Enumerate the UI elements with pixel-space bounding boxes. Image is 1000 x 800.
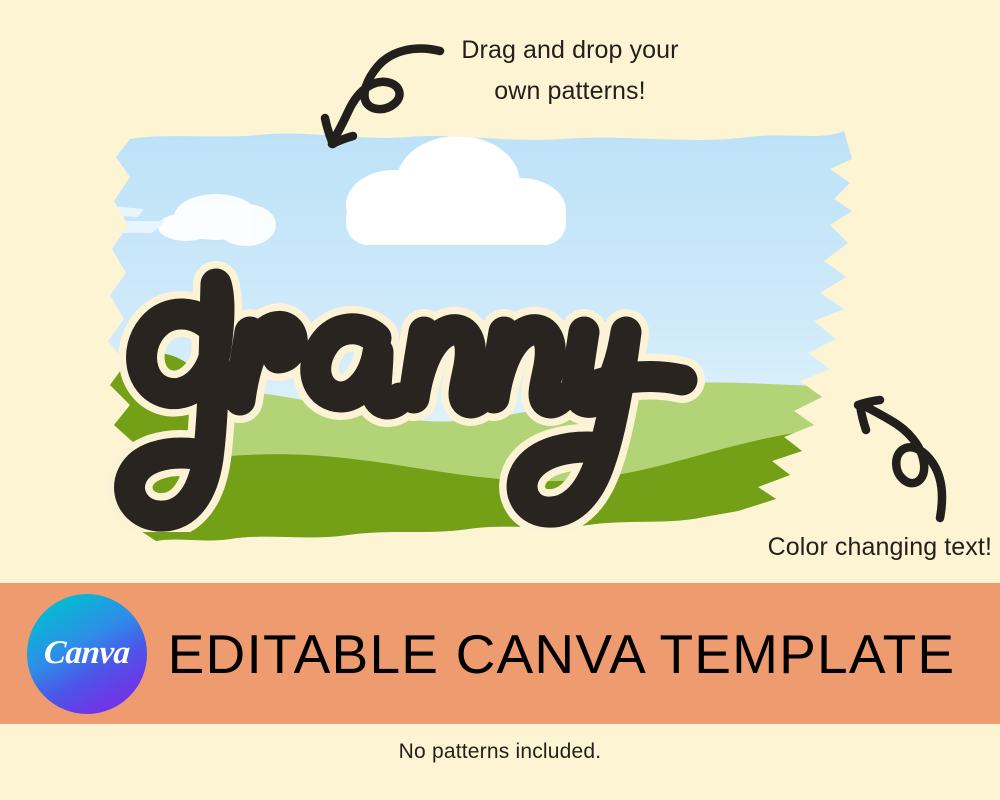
footer-note: No patterns included.: [0, 740, 1000, 764]
canva-template-preview-image: Drag and drop your own patterns! Color c…: [0, 0, 1000, 800]
canva-wordmark: Canva: [43, 635, 131, 672]
curly-arrow-down-left-icon: [312, 32, 442, 148]
annotation-color-changing: Color changing text!: [700, 527, 992, 568]
annotation-drag-and-drop: Drag and drop your own patterns!: [440, 30, 700, 111]
editable-canva-template-banner: Canva EDITABLE CANVA TEMPLATE: [0, 583, 1000, 724]
annotation-line-1: Drag and drop your: [440, 30, 700, 71]
curly-arrow-up-left-icon: [852, 392, 970, 520]
landscape-brushstroke-artwork: [108, 125, 868, 567]
annotation-line-2: own patterns!: [440, 71, 700, 112]
banner-title: EDITABLE CANVA TEMPLATE: [147, 622, 1000, 686]
annotation-line-1: Color changing text!: [700, 527, 992, 568]
canva-logo-icon: Canva: [27, 594, 147, 714]
